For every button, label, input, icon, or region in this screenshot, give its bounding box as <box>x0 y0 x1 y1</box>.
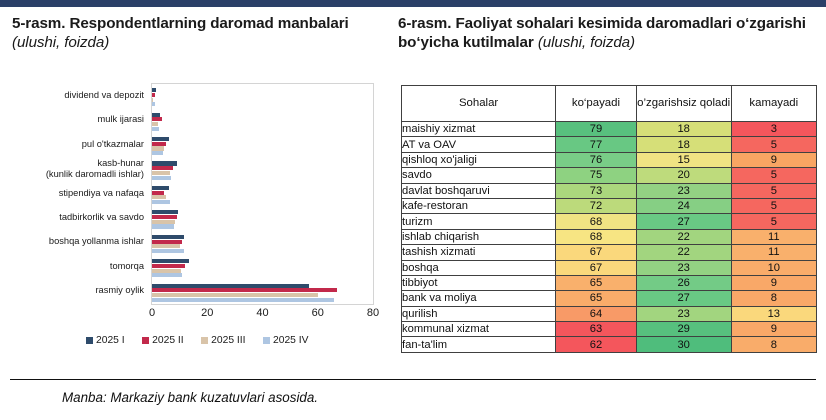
expectations-table: Sohalar ko‘payadi o’zgarishsiz qoladi ka… <box>401 85 817 353</box>
top-accent-band <box>0 0 826 7</box>
bar-2 <box>152 146 164 150</box>
cell-increase: 76 <box>556 152 637 167</box>
x-tick-label: 80 <box>367 307 379 319</box>
bar-group <box>152 88 156 107</box>
category-label: stipendiya va nafaqa <box>12 188 144 199</box>
cell-increase: 68 <box>556 214 637 229</box>
table-body: maishiy xizmat79183AT va OAV77185qishloq… <box>402 122 817 353</box>
bar-1 <box>152 117 162 121</box>
cell-unchanged: 30 <box>636 337 731 352</box>
bar-0 <box>152 284 309 288</box>
bar-3 <box>152 102 155 106</box>
cell-sector: qurilish <box>402 306 556 321</box>
table-row: qurilish642313 <box>402 306 817 321</box>
table-row: ishlab chiqarish682211 <box>402 229 817 244</box>
bar-3 <box>152 224 174 228</box>
table-row: kafe-restoran72245 <box>402 198 817 213</box>
cell-unchanged: 27 <box>636 291 731 306</box>
cell-sector: turizm <box>402 214 556 229</box>
x-tick-label: 60 <box>312 307 324 319</box>
cell-sector: bank va moliya <box>402 291 556 306</box>
category-label: kasb-hunar(kunlik daromadli ishlar) <box>12 158 144 179</box>
category-label: dividend va depozit <box>12 90 144 101</box>
bar-group <box>152 284 337 303</box>
cell-unchanged: 18 <box>636 122 731 137</box>
table-row: boshqa672310 <box>402 260 817 275</box>
column-header-sector: Sohalar <box>402 86 556 122</box>
source-note: Manba: Markaziy bank kuzatuvlari asosida… <box>62 390 318 405</box>
table-row: qishloq xo'jaligi76159 <box>402 152 817 167</box>
chart-category-labels: dividend va depozitmulk ijarasipul o'tka… <box>12 83 148 305</box>
cell-increase: 63 <box>556 322 637 337</box>
bar-0 <box>152 161 177 165</box>
legend-item[interactable]: 2025 I <box>86 335 125 346</box>
bar-2 <box>152 293 318 297</box>
bar-group <box>152 210 178 229</box>
cell-unchanged: 24 <box>636 198 731 213</box>
category-label: pul o'tkazmalar <box>12 139 144 150</box>
expectations-table-wrapper: Sohalar ko‘payadi o’zgarishsiz qoladi ka… <box>401 85 817 353</box>
table-row: AT va OAV77185 <box>402 137 817 152</box>
cell-sector: ishlab chiqarish <box>402 229 556 244</box>
bar-3 <box>152 273 182 277</box>
bar-3 <box>152 200 170 204</box>
cell-sector: tashish xizmati <box>402 245 556 260</box>
legend-item[interactable]: 2025 IV <box>263 335 309 346</box>
cell-unchanged: 26 <box>636 275 731 290</box>
cell-increase: 75 <box>556 168 637 183</box>
cell-sector: kommunal xizmat <box>402 322 556 337</box>
category-label: tomorqa <box>12 261 144 272</box>
cell-sector: tibbiyot <box>402 275 556 290</box>
bar-group <box>152 161 177 180</box>
cell-increase: 73 <box>556 183 637 198</box>
table-row: tibbiyot65269 <box>402 275 817 290</box>
table-header-row: Sohalar ko‘payadi o’zgarishsiz qoladi ka… <box>402 86 817 122</box>
cell-sector: savdo <box>402 168 556 183</box>
cell-unchanged: 22 <box>636 229 731 244</box>
bar-3 <box>152 298 334 302</box>
figure-page: 5-rasm. Respondentlarning daromad manbal… <box>0 0 826 420</box>
cell-decrease: 10 <box>731 260 816 275</box>
bar-2 <box>152 98 153 102</box>
cell-increase: 68 <box>556 229 637 244</box>
legend-item[interactable]: 2025 III <box>201 335 246 346</box>
cell-unchanged: 23 <box>636 306 731 321</box>
cell-decrease: 5 <box>731 137 816 152</box>
cell-sector: kafe-restoran <box>402 198 556 213</box>
table-row: fan-ta'lim62308 <box>402 337 817 352</box>
figure6-title-sub: (ulushi, foizda) <box>538 34 635 51</box>
bar-1 <box>152 215 177 219</box>
bar-0 <box>152 88 156 92</box>
bar-2 <box>152 220 175 224</box>
legend-label: 2025 I <box>96 335 125 346</box>
bar-1 <box>152 93 155 97</box>
bar-2 <box>152 195 166 199</box>
bar-2 <box>152 122 158 126</box>
cell-sector: maishiy xizmat <box>402 122 556 137</box>
bar-3 <box>152 127 159 131</box>
left-figure-panel: 5-rasm. Respondentlarning daromad manbal… <box>0 7 390 382</box>
income-sources-chart: dividend va depozitmulk ijarasipul o'tka… <box>12 83 378 368</box>
bar-2 <box>152 171 170 175</box>
column-header-same: o’zgarishsiz qoladi <box>636 86 731 122</box>
cell-sector: davlat boshqaruvi <box>402 183 556 198</box>
bar-group <box>152 259 189 278</box>
cell-increase: 77 <box>556 137 637 152</box>
chart-x-axis: 020406080 <box>151 307 374 325</box>
column-header-decrease: kamayadi <box>731 86 816 122</box>
bar-1 <box>152 264 185 268</box>
right-figure-panel: 6-rasm. Faoliyat sohalari kesimida darom… <box>392 7 826 382</box>
table-row: savdo75205 <box>402 168 817 183</box>
figure6-title: 6-rasm. Faoliyat sohalari kesimida darom… <box>392 7 826 53</box>
category-label: tadbirkorlik va savdo <box>12 212 144 223</box>
bar-0 <box>152 137 169 141</box>
cell-unchanged: 29 <box>636 322 731 337</box>
cell-unchanged: 18 <box>636 137 731 152</box>
cell-increase: 65 <box>556 291 637 306</box>
table-row: maishiy xizmat79183 <box>402 122 817 137</box>
footer-divider <box>10 379 816 380</box>
cell-unchanged: 23 <box>636 183 731 198</box>
bar-0 <box>152 186 169 190</box>
cell-decrease: 5 <box>731 168 816 183</box>
cell-decrease: 8 <box>731 291 816 306</box>
cell-sector: qishloq xo'jaligi <box>402 152 556 167</box>
bar-0 <box>152 235 184 239</box>
cell-decrease: 5 <box>731 183 816 198</box>
bar-1 <box>152 142 166 146</box>
bar-group <box>152 113 162 132</box>
legend-swatch-icon <box>201 337 208 344</box>
bar-1 <box>152 288 337 292</box>
bar-group <box>152 235 184 254</box>
column-header-increase: ko‘payadi <box>556 86 637 122</box>
table-row: davlat boshqaruvi73235 <box>402 183 817 198</box>
legend-swatch-icon <box>86 337 93 344</box>
x-tick-label: 0 <box>149 307 155 319</box>
cell-unchanged: 27 <box>636 214 731 229</box>
cell-increase: 67 <box>556 260 637 275</box>
legend-item[interactable]: 2025 II <box>142 335 184 346</box>
category-label: mulk ijarasi <box>12 114 144 125</box>
cell-increase: 62 <box>556 337 637 352</box>
figure5-title-main: 5-rasm. Respondentlarning daromad manbal… <box>12 15 349 32</box>
cell-decrease: 3 <box>731 122 816 137</box>
cell-increase: 67 <box>556 245 637 260</box>
legend-label: 2025 II <box>152 335 184 346</box>
legend-swatch-icon <box>263 337 270 344</box>
cell-decrease: 9 <box>731 275 816 290</box>
table-row: turizm68275 <box>402 214 817 229</box>
cell-decrease: 8 <box>731 337 816 352</box>
cell-increase: 65 <box>556 275 637 290</box>
bar-group <box>152 137 169 156</box>
cell-sector: AT va OAV <box>402 137 556 152</box>
figure5-title: 5-rasm. Respondentlarning daromad manbal… <box>0 7 390 53</box>
cell-sector: boshqa <box>402 260 556 275</box>
cell-increase: 64 <box>556 306 637 321</box>
cell-increase: 72 <box>556 198 637 213</box>
bar-1 <box>152 191 164 195</box>
bar-1 <box>152 240 182 244</box>
legend-label: 2025 III <box>211 335 245 346</box>
category-label: boshqa yollanma ishlar <box>12 236 144 247</box>
cell-unchanged: 20 <box>636 168 731 183</box>
cell-decrease: 13 <box>731 306 816 321</box>
bar-0 <box>152 113 160 117</box>
figure5-title-sub: (ulushi, foizda) <box>12 34 109 51</box>
cell-decrease: 11 <box>731 245 816 260</box>
table-row: bank va moliya65278 <box>402 291 817 306</box>
cell-decrease: 9 <box>731 322 816 337</box>
bar-0 <box>152 210 178 214</box>
cell-increase: 79 <box>556 122 637 137</box>
table-row: kommunal xizmat63299 <box>402 322 817 337</box>
chart-plot-area <box>151 83 374 305</box>
legend-label: 2025 IV <box>273 335 309 346</box>
cell-decrease: 5 <box>731 198 816 213</box>
cell-unchanged: 23 <box>636 260 731 275</box>
bar-2 <box>152 244 180 248</box>
cell-unchanged: 22 <box>636 245 731 260</box>
cell-decrease: 9 <box>731 152 816 167</box>
cell-decrease: 11 <box>731 229 816 244</box>
x-tick-label: 40 <box>256 307 268 319</box>
chart-legend: 2025 I2025 II2025 III2025 IV <box>16 335 378 346</box>
bar-2 <box>152 269 181 273</box>
bar-3 <box>152 249 184 253</box>
bar-0 <box>152 259 189 263</box>
cell-sector: fan-ta'lim <box>402 337 556 352</box>
bar-1 <box>152 166 173 170</box>
bar-3 <box>152 151 163 155</box>
cell-unchanged: 15 <box>636 152 731 167</box>
cell-decrease: 5 <box>731 214 816 229</box>
bar-group <box>152 186 170 205</box>
x-tick-label: 20 <box>201 307 213 319</box>
table-row: tashish xizmati672211 <box>402 245 817 260</box>
category-label: rasmiy oylik <box>12 285 144 296</box>
bar-3 <box>152 176 171 180</box>
legend-swatch-icon <box>142 337 149 344</box>
